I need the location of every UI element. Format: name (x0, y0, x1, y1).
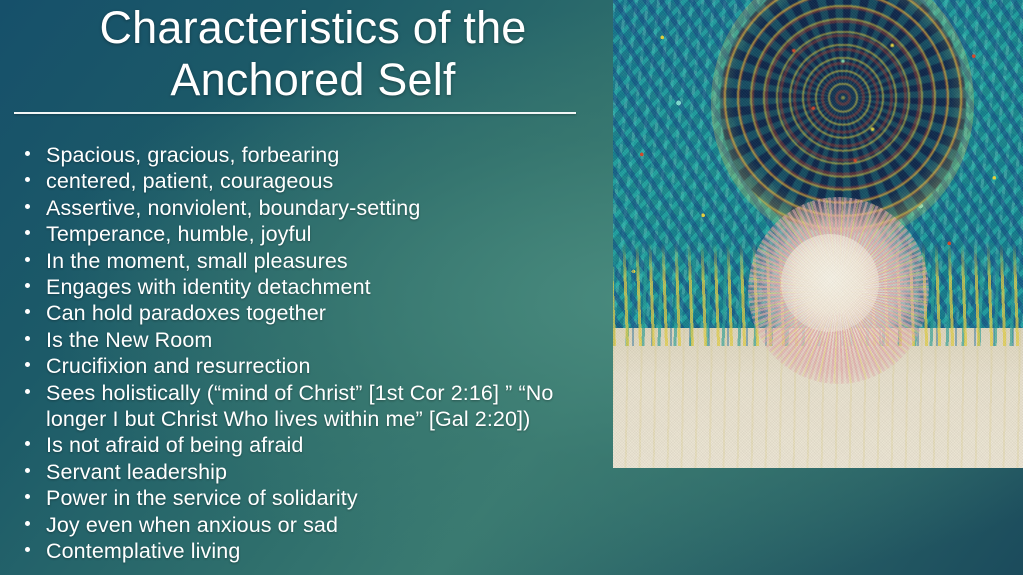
bullet-dot-icon (25, 441, 30, 446)
list-item-label: Spacious, gracious, forbearing (46, 143, 339, 167)
bullet-dot-icon (25, 309, 30, 314)
list-item-label: Servant leadership (46, 460, 227, 484)
bullet-dot-icon (25, 362, 30, 367)
list-item-label: Is not afraid of being afraid (46, 433, 303, 457)
list-item: Joy even when anxious or sad (18, 512, 610, 538)
list-item-label: Crucifixion and resurrection (46, 354, 311, 378)
list-item: Is not afraid of being afraid (18, 432, 610, 458)
painting-starburst-core (781, 234, 879, 332)
bullet-dot-icon (25, 151, 30, 156)
bullet-dot-icon (25, 177, 30, 182)
list-item: Is the New Room (18, 327, 610, 353)
list-item-label: In the moment, small pleasures (46, 249, 348, 273)
list-item-label: Is the New Room (46, 328, 212, 352)
title-block: Characteristics of the Anchored Self (18, 0, 608, 106)
bullet-dot-icon (25, 521, 30, 526)
bullet-dot-icon (25, 468, 30, 473)
list-item: In the moment, small pleasures (18, 248, 610, 274)
list-item: Temperance, humble, joyful (18, 221, 610, 247)
bullet-dot-icon (25, 547, 30, 552)
bullet-dot-icon (25, 204, 30, 209)
bullet-dot-icon (25, 389, 30, 394)
list-item: Power in the service of solidarity (18, 485, 610, 511)
list-item-label: Power in the service of solidarity (46, 486, 358, 510)
bullet-dot-icon (25, 494, 30, 499)
list-item-label: Engages with identity detachment (46, 275, 371, 299)
bullet-dot-icon (25, 257, 30, 262)
list-item-label: Assertive, nonviolent, boundary-setting (46, 196, 420, 220)
list-item: Contemplative living (18, 538, 610, 564)
list-item: Spacious, gracious, forbearing (18, 142, 610, 168)
list-item: Servant leadership (18, 459, 610, 485)
list-item-label: Temperance, humble, joyful (46, 222, 312, 246)
list-item: Assertive, nonviolent, boundary-setting (18, 195, 610, 221)
presentation-slide: Characteristics of the Anchored Self Spa… (0, 0, 1023, 575)
bullet-dot-icon (25, 283, 30, 288)
list-item-label: Joy even when anxious or sad (46, 513, 338, 537)
bullet-dot-icon (25, 230, 30, 235)
list-item: Engages with identity detachment (18, 274, 610, 300)
list-item: Sees holistically (“mind of Christ” [1st… (18, 380, 610, 433)
bullet-dot-icon (25, 336, 30, 341)
list-item: Crucifixion and resurrection (18, 353, 610, 379)
bullet-list: Spacious, gracious, forbearing centered,… (18, 142, 610, 565)
list-item-label: Sees holistically (“mind of Christ” [1st… (46, 381, 553, 431)
impasto-painting-image (613, 0, 1023, 468)
title-divider (14, 112, 576, 114)
list-item: centered, patient, courageous (18, 168, 610, 194)
page-title: Characteristics of the Anchored Self (18, 0, 608, 106)
list-item-label: Can hold paradoxes together (46, 301, 326, 325)
list-item-label: centered, patient, courageous (46, 169, 333, 193)
list-item: Can hold paradoxes together (18, 300, 610, 326)
list-item-label: Contemplative living (46, 539, 240, 563)
